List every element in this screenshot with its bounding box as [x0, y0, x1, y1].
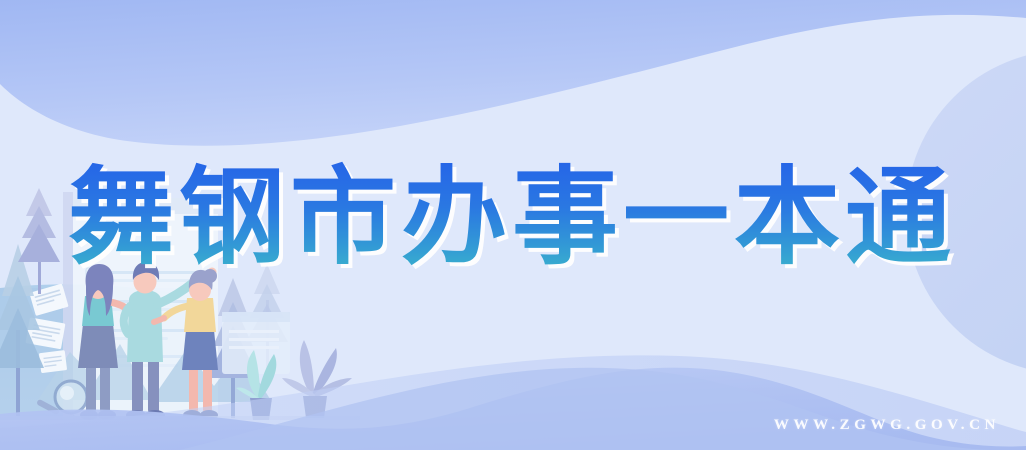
site-banner: 舞钢市办事一本通 舞钢市办事一本通 WWW.ZGWG.GOV.CN: [0, 0, 1026, 450]
foreground-shapes: [0, 0, 1026, 450]
site-url-watermark: WWW.ZGWG.GOV.CN: [774, 417, 1000, 434]
